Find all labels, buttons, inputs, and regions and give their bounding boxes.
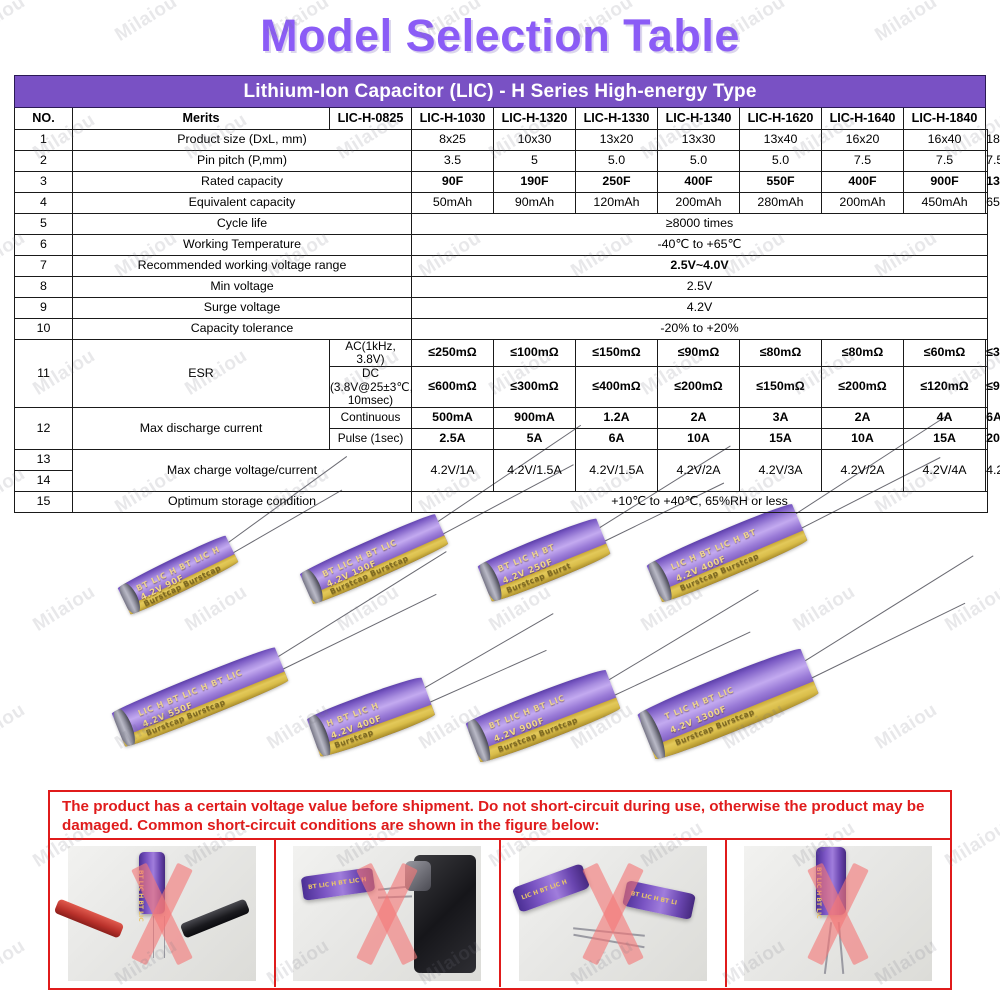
cell-0-5: 16x20 (822, 130, 904, 151)
esr-cell-0-0: ≤250mΩ (412, 340, 494, 367)
capacitor-body: BT LIC H BT4.2V 250FBurstcap Burst (476, 516, 611, 605)
row-span-value: 2.5V (412, 277, 988, 298)
row-no: 11 (15, 340, 73, 408)
table-row: 12Max discharge currentContinuous500mA90… (15, 408, 988, 429)
row-label: Recommended working voltage range (73, 256, 412, 277)
cell-2-2: 250F (576, 172, 658, 193)
esr-cell-1-6: ≤120mΩ (904, 367, 986, 408)
capacitor-end-cap (111, 705, 140, 749)
discharge-cell-1-4: 15A (740, 429, 822, 450)
row-label: Pin pitch (P,mm) (73, 151, 412, 172)
row-span-value: 4.2V (412, 298, 988, 319)
row-no: 8 (15, 277, 73, 298)
discharge-cell-1-2: 6A (576, 429, 658, 450)
esr-cell-1-7: ≤90mΩ (986, 367, 988, 408)
discharge-cell-1-0: 2.5A (412, 429, 494, 450)
capacitor-6: BT LIC H BT LIC4.2V 900FBurstcap Burstca… (464, 667, 621, 766)
cell-0-2: 13x20 (576, 130, 658, 151)
capacitor-body: T LIC H BT LIC4.2V 1300FBurstcap Burstca… (636, 645, 820, 763)
watermark-text: Milaiou (0, 935, 30, 990)
discharge-cell-1-5: 10A (822, 429, 904, 450)
row-label: Capacity tolerance (73, 319, 412, 340)
row-no: 15 (15, 492, 73, 513)
spec-table: Lithium-Ion Capacitor (LIC) - H Series H… (14, 75, 988, 513)
header-model-3: LIC-H-1330 (576, 108, 658, 130)
cell-1-2: 5.0 (576, 151, 658, 172)
table-header-row: NO.MeritsLIC-H-0825LIC-H-1030LIC-H-1320L… (15, 108, 988, 130)
esr-cell-1-5: ≤200mΩ (822, 367, 904, 408)
discharge-cell-0-3: 2A (658, 408, 740, 429)
discharge-cell-1-6: 15A (904, 429, 986, 450)
discharge-cell-1-7: 20A (986, 429, 988, 450)
table-row: 9Surge voltage4.2V (15, 298, 988, 319)
capacitor-lead-positive (421, 613, 553, 690)
capacitor-3: LIC H BT LIC H BT4.2V 400FBurstcap Burst… (645, 501, 808, 605)
cell-1-0: 3.5 (412, 151, 494, 172)
esr-subrow-label-0: AC(1kHz, 3.8V) (330, 340, 412, 367)
row-span-value: 2.5V~4.0V (412, 256, 988, 277)
row-span-value: -20% to +20% (412, 319, 988, 340)
esr-cell-1-3: ≤200mΩ (658, 367, 740, 408)
discharge-cell-0-4: 3A (740, 408, 822, 429)
row-label: Surge voltage (73, 298, 412, 319)
cell-3-3: 200mAh (658, 193, 740, 214)
discharge-cell-0-1: 900mA (494, 408, 576, 429)
charge-cell-7: 4.2V/6A (986, 450, 988, 492)
capacitor-lead-positive (802, 555, 974, 663)
capacitor-5: H BT LIC H4.2V 400FBurstcap (306, 675, 436, 760)
model-selection-table: Lithium-Ion Capacitor (LIC) - H Series H… (14, 75, 988, 513)
header-model-2: LIC-H-1320 (494, 108, 576, 130)
capacitor-0: BT LIC H BT LIC H4.2V 90FBurstcap Burstc… (117, 533, 240, 616)
capacitor-body: LIC H BT LIC H BT LIC4.2V 550FBurstcap B… (111, 645, 290, 750)
esr-cell-0-3: ≤90mΩ (658, 340, 740, 367)
capacitor-body: H BT LIC H4.2V 400FBurstcap (306, 675, 436, 760)
discharge-cell-0-2: 1.2A (576, 408, 658, 429)
x-mark-icon (339, 861, 435, 967)
charge-cell-3: 4.2V/2A (658, 450, 740, 492)
cell-0-6: 16x40 (904, 130, 986, 151)
cell-3-7: 650mAh (986, 193, 988, 214)
row-label: Product size (DxL, mm) (73, 130, 412, 151)
cell-3-0: 50mAh (412, 193, 494, 214)
capacitor-body: BT LIC H BT LIC4.2V 190FBurstcap Burstca… (299, 512, 450, 607)
cell-1-5: 7.5 (822, 151, 904, 172)
table-row: 15Optimum storage condition+10℃ to +40℃,… (15, 492, 988, 513)
cell-3-2: 120mAh (576, 193, 658, 214)
warning-photo-0: BT LIC H BT LIC (50, 840, 276, 987)
esr-cell-0-6: ≤60mΩ (904, 340, 986, 367)
cell-0-1: 10x30 (494, 130, 576, 151)
header-no: NO. (15, 108, 73, 130)
cell-0-3: 13x30 (658, 130, 740, 151)
charge-cell-6: 4.2V/4A (904, 450, 986, 492)
warning-photo-2: LIC H BT LIC HBT LIC H BT LI (501, 840, 727, 987)
x-mark-icon (114, 861, 210, 967)
discharge-cell-0-7: 6A (986, 408, 988, 429)
capacitor-product-illustration: BT LIC H BT LIC H4.2V 90FBurstcap Burstc… (0, 498, 1000, 790)
header-merits: Merits (73, 108, 330, 130)
capacitor-2: BT LIC H BT4.2V 250FBurstcap Burst (476, 516, 611, 605)
header-model-7: LIC-H-1840 (904, 108, 986, 130)
row-span-value: -40℃ to +65℃ (412, 235, 988, 256)
table-row: 1Product size (DxL, mm)8x2510x3013x2013x… (15, 130, 988, 151)
esr-cell-0-2: ≤150mΩ (576, 340, 658, 367)
row-no: 9 (15, 298, 73, 319)
cell-2-1: 190F (494, 172, 576, 193)
header-model-0: LIC-H-0825 (330, 108, 412, 130)
x-mark-icon (790, 861, 886, 967)
cell-3-5: 200mAh (822, 193, 904, 214)
esr-subrow-label-1: DC (3.8V@25±3℃, 10msec) (330, 367, 412, 408)
charge-cell-0: 4.2V/1A (412, 450, 494, 492)
row-label: Max charge voltage/current (73, 450, 412, 492)
esr-cell-0-7: ≤35mΩ (986, 340, 988, 367)
charge-cell-5: 4.2V/2A (822, 450, 904, 492)
row-label: Working Temperature (73, 235, 412, 256)
discharge-cell-0-6: 4A (904, 408, 986, 429)
esr-cell-1-2: ≤400mΩ (576, 367, 658, 408)
capacitor-7: T LIC H BT LIC4.2V 1300FBurstcap Burstca… (636, 645, 820, 763)
cell-1-6: 7.5 (904, 151, 986, 172)
row-label: Equivalent capacity (73, 193, 412, 214)
row-no: 12 (15, 408, 73, 450)
capacitor-lead-positive (606, 590, 759, 683)
cell-0-0: 8x25 (412, 130, 494, 151)
cell-3-6: 450mAh (904, 193, 986, 214)
table-row: 8Min voltage2.5V (15, 277, 988, 298)
table-row: 2Pin pitch (P,mm)3.555.05.05.07.57.57.5 (15, 151, 988, 172)
esr-cell-0-5: ≤80mΩ (822, 340, 904, 367)
discharge-cell-0-0: 500mA (412, 408, 494, 429)
capacitor-body: LIC H BT LIC H BT4.2V 400FBurstcap Burst… (645, 501, 808, 605)
cell-2-5: 400F (822, 172, 904, 193)
table-row: 4Equivalent capacity50mAh90mAh120mAh200m… (15, 193, 988, 214)
header-model-1: LIC-H-1030 (412, 108, 494, 130)
row-no: 6 (15, 235, 73, 256)
header-model-4: LIC-H-1340 (658, 108, 740, 130)
table-row: 6Working Temperature-40℃ to +65℃ (15, 235, 988, 256)
table-row: 10Capacity tolerance-20% to +20% (15, 319, 988, 340)
row-span-value: +10℃ to +40℃, 65%RH or less (412, 492, 988, 513)
row-span-value: ≥8000 times (412, 214, 988, 235)
cell-1-7: 7.5 (986, 151, 988, 172)
page-title: Model Selection Table (0, 10, 1000, 62)
discharge-subrow-label-0: Continuous (330, 408, 412, 429)
row-no: 5 (15, 214, 73, 235)
header-model-6: LIC-H-1640 (822, 108, 904, 130)
capacitor-body: BT LIC H BT LIC4.2V 900FBurstcap Burstca… (464, 667, 621, 766)
table-row: 7Recommended working voltage range2.5V~4… (15, 256, 988, 277)
cell-3-1: 90mAh (494, 193, 576, 214)
esr-cell-1-4: ≤150mΩ (740, 367, 822, 408)
cell-2-3: 400F (658, 172, 740, 193)
cell-2-4: 550F (740, 172, 822, 193)
row-label: Optimum storage condition (73, 492, 412, 513)
cell-1-1: 5 (494, 151, 576, 172)
discharge-subrow-label-1: Pulse (1sec) (330, 429, 412, 450)
row-label: Min voltage (73, 277, 412, 298)
row-no: 7 (15, 256, 73, 277)
esr-cell-0-4: ≤80mΩ (740, 340, 822, 367)
charge-cell-2: 4.2V/1.5A (576, 450, 658, 492)
row-label: Cycle life (73, 214, 412, 235)
cell-0-4: 13x40 (740, 130, 822, 151)
row-no: 13 (15, 450, 73, 471)
cell-2-6: 900F (904, 172, 986, 193)
charge-cell-4: 4.2V/3A (740, 450, 822, 492)
esr-cell-1-0: ≤600mΩ (412, 367, 494, 408)
row-no: 2 (15, 151, 73, 172)
cell-1-4: 5.0 (740, 151, 822, 172)
cell-0-7: 18x40 (986, 130, 988, 151)
capacitor-4: LIC H BT LIC H BT LIC4.2V 550FBurstcap B… (111, 645, 290, 750)
cell-2-7: 1300F (986, 172, 988, 193)
esr-cell-0-1: ≤100mΩ (494, 340, 576, 367)
row-no: 10 (15, 319, 73, 340)
table-row: 3Rated capacity90F190F250F400F550F400F90… (15, 172, 988, 193)
row-no: 14 (15, 471, 73, 492)
cell-3-4: 280mAh (740, 193, 822, 214)
header-model-5: LIC-H-1620 (740, 108, 822, 130)
row-label: Max discharge current (73, 408, 330, 450)
row-no: 1 (15, 130, 73, 151)
cell-1-3: 5.0 (658, 151, 740, 172)
discharge-cell-1-1: 5A (494, 429, 576, 450)
capacitor-body: BT LIC H BT LIC H4.2V 90FBurstcap Burstc… (117, 533, 240, 616)
row-no: 4 (15, 193, 73, 214)
row-no: 3 (15, 172, 73, 193)
warning-box: The product has a certain voltage value … (48, 790, 952, 990)
warning-photo-1: BT LIC H BT LIC H (276, 840, 502, 987)
discharge-cell-1-3: 10A (658, 429, 740, 450)
capacitor-1: BT LIC H BT LIC4.2V 190FBurstcap Burstca… (299, 512, 450, 607)
discharge-cell-0-5: 2A (822, 408, 904, 429)
capacitor-lead-negative (808, 603, 965, 680)
warning-photo-row: BT LIC H BT LICBT LIC H BT LIC HLIC H BT… (50, 840, 950, 987)
charge-cell-1: 4.2V/1.5A (494, 450, 576, 492)
warning-photo-3: BT LIC H BT LIC (727, 840, 951, 987)
esr-cell-1-1: ≤300mΩ (494, 367, 576, 408)
table-banner: Lithium-Ion Capacitor (LIC) - H Series H… (15, 76, 986, 108)
row-label: ESR (73, 340, 330, 408)
warning-text: The product has a certain voltage value … (50, 792, 950, 840)
x-mark-icon (565, 861, 661, 967)
table-row: 11ESRAC(1kHz, 3.8V)≤250mΩ≤100mΩ≤150mΩ≤90… (15, 340, 988, 367)
table-row: 5Cycle life≥8000 times (15, 214, 988, 235)
row-label: Rated capacity (73, 172, 412, 193)
table-row: 13Max charge voltage/current4.2V/1A4.2V/… (15, 450, 988, 471)
cell-2-0: 90F (412, 172, 494, 193)
